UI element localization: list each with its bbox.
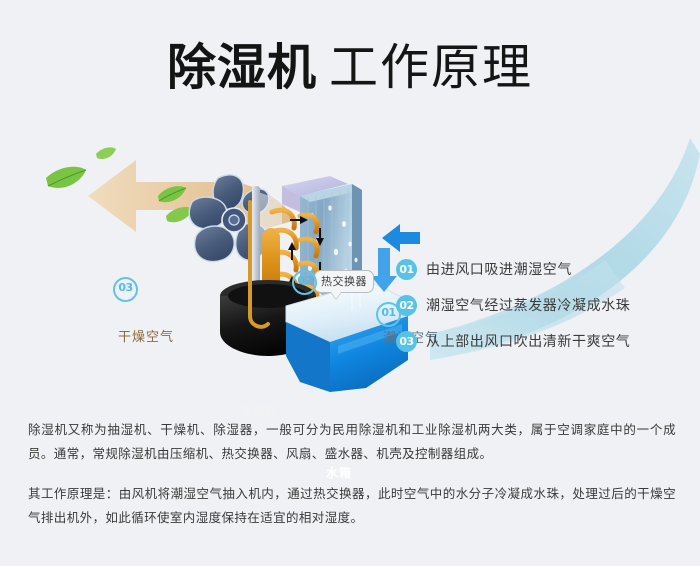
page-title-strong: 除湿机 [167,39,317,96]
legend-item: 02 潮湿空气经过蒸发器冷凝成水珠 [396,294,686,316]
description-paragraph-1: 除湿机又称为抽湿机、干燥机、除湿器，一般可分为民用除湿机和工业除湿机两大类，属于… [28,418,676,466]
legend-item: 01 由进风口吸进潮湿空气 [396,258,686,280]
leaf-icon-1 [46,167,86,188]
compressor-label: 压缩机 [241,402,277,418]
diagram-badge-02: 02 [292,270,317,295]
legend-text-02: 潮湿空气经过蒸发器冷凝成水珠 [426,295,630,315]
legend-badge-01: 01 [396,259,417,280]
page-title: 除湿机工作原理 [0,28,700,99]
page-title-light: 工作原理 [329,39,533,96]
legend-badge-03: 03 [396,331,417,352]
legend-text-03: 从上部出风口吹出清新干爽空气 [426,331,630,351]
heat-exchanger-callout-label: 热交换器 [321,275,367,288]
diagram-badge-03: 03 [113,277,138,302]
description-block: 除湿机又称为抽湿机、干燥机、除湿器，一般可分为民用除湿机和工业除湿机两大类，属于… [28,418,676,546]
process-legend-list: 01 由进风口吸进潮湿空气 02 潮湿空气经过蒸发器冷凝成水珠 03 从上部出风… [396,258,686,366]
description-paragraph-2: 其工作原理是：由风机将潮湿空气抽入机内，通过热交换器，此时空气中的水分子冷凝成水… [28,482,676,530]
legend-text-01: 由进风口吸进潮湿空气 [426,259,572,279]
leaf-icon-2 [96,147,116,159]
intake-arrow-icon [382,224,420,252]
heat-exchanger-callout: 热交换器 [314,270,374,293]
legend-item: 03 从上部出风口吹出清新干爽空气 [396,330,686,352]
legend-badge-02: 02 [396,295,417,316]
